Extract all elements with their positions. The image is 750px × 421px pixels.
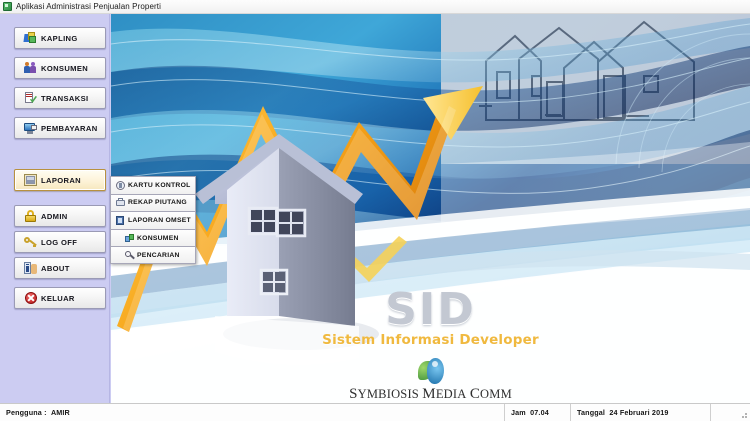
sidebar-button-about[interactable]: ABOUT <box>14 257 106 279</box>
sidebar-button-kapling[interactable]: KAPLING <box>14 27 106 49</box>
sidebar-button-kapling-label: KAPLING <box>41 34 78 43</box>
sidebar-button-pembayaran[interactable]: PEMBAYARAN <box>14 117 106 139</box>
background-artwork <box>111 14 750 403</box>
menu-item-pencarian-label: PENCARIAN <box>137 252 180 259</box>
info-icon <box>24 262 37 274</box>
sidebar-button-admin[interactable]: ADMIN <box>14 205 106 227</box>
sidebar-button-konsumen-label: KONSUMEN <box>41 64 88 73</box>
status-time-label: Jam <box>511 408 526 417</box>
status-time-cell: Jam 07.04 <box>505 404 571 421</box>
menu-item-konsumen[interactable]: KONSUMEN <box>110 229 196 247</box>
kapling-icon <box>24 32 37 44</box>
laporan-dropdown-menu: KARTU KONTROL REKAP PIUTANG LAPORAN OMSE… <box>110 176 196 264</box>
padlock-icon <box>24 210 37 222</box>
menu-item-rekap-piutang-label: REKAP PIUTANG <box>128 199 187 206</box>
sidebar-button-about-label: ABOUT <box>41 264 70 273</box>
revenue-report-icon <box>116 216 125 225</box>
sidebar-button-logoff[interactable]: LOG OFF <box>14 231 106 253</box>
status-user-label: Pengguna : <box>6 408 47 417</box>
sidebar: KAPLING KONSUMEN TRANSAKSI PEMBAYARAN LA… <box>0 14 110 403</box>
keys-icon <box>24 236 37 248</box>
sidebar-button-logoff-label: LOG OFF <box>41 238 77 247</box>
status-user-cell: Pengguna : AMIR <box>0 404 505 421</box>
menu-item-konsumen-label: KONSUMEN <box>137 235 179 242</box>
sidebar-button-keluar-label: KELUAR <box>41 294 75 303</box>
sidebar-button-laporan[interactable]: LAPORAN <box>14 169 106 191</box>
sidebar-button-admin-label: ADMIN <box>41 212 68 221</box>
menu-item-kartu-kontrol-label: KARTU KONTROL <box>128 182 191 189</box>
sidebar-button-keluar[interactable]: KELUAR <box>14 287 106 309</box>
sidebar-button-transaksi-label: TRANSAKSI <box>41 94 88 103</box>
resize-grip[interactable] <box>738 409 748 419</box>
menu-item-kartu-kontrol[interactable]: KARTU KONTROL <box>110 176 196 194</box>
sidebar-button-laporan-label: LAPORAN <box>41 176 81 185</box>
menu-item-pencarian[interactable]: PENCARIAN <box>110 246 196 264</box>
title-bar: Aplikasi Administrasi Penjualan Properti <box>0 0 750 14</box>
sidebar-button-transaksi[interactable]: TRANSAKSI <box>14 87 106 109</box>
status-date-label: Tanggal <box>577 408 605 417</box>
konsumen-icon <box>24 62 37 74</box>
search-icon <box>125 251 134 260</box>
status-time-value: 07.04 <box>530 408 549 417</box>
status-date-value: 24 Februari 2019 <box>609 408 668 417</box>
status-date-cell: Tanggal 24 Februari 2019 <box>571 404 711 421</box>
transaksi-icon <box>24 92 37 104</box>
exit-icon <box>24 292 37 304</box>
menu-item-rekap-piutang[interactable]: REKAP PIUTANG <box>110 194 196 212</box>
control-card-icon <box>116 181 125 190</box>
sidebar-button-konsumen[interactable]: KONSUMEN <box>14 57 106 79</box>
application-window: KAPLING KONSUMEN TRANSAKSI PEMBAYARAN LA… <box>0 14 750 403</box>
status-user-value: AMIR <box>51 408 70 417</box>
menu-item-laporan-omset[interactable]: LAPORAN OMSET <box>110 211 196 229</box>
receivables-icon <box>116 198 125 207</box>
window-title: Aplikasi Administrasi Penjualan Properti <box>16 2 161 11</box>
menu-item-laporan-omset-label: LAPORAN OMSET <box>128 217 191 224</box>
sidebar-button-pembayaran-label: PEMBAYARAN <box>41 124 98 133</box>
main-content-area <box>111 14 750 403</box>
app-window-icon <box>3 2 12 11</box>
customers-icon <box>125 234 134 243</box>
laporan-icon <box>24 174 37 186</box>
status-bar: Pengguna : AMIR Jam 07.04 Tanggal 24 Feb… <box>0 403 750 421</box>
pembayaran-icon <box>24 122 37 134</box>
